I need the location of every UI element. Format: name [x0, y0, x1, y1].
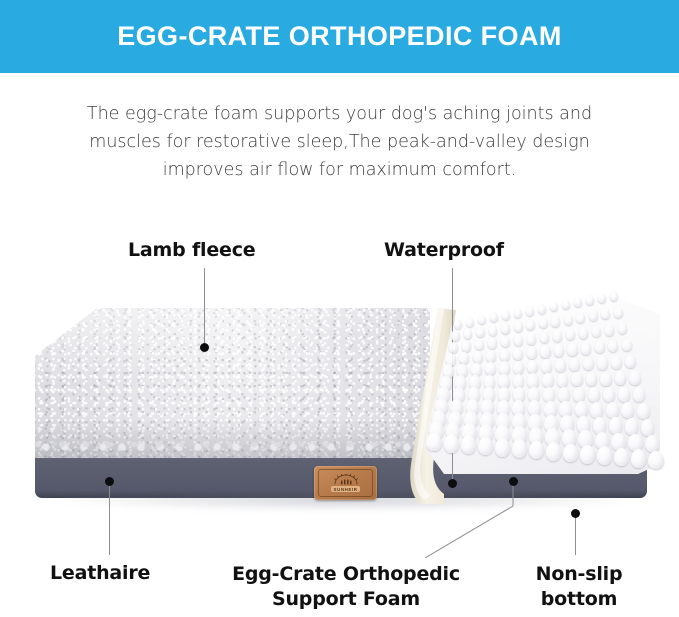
foam-peak — [502, 310, 510, 320]
foam-peak — [574, 297, 582, 307]
foam-peak — [610, 291, 618, 301]
foam-peak — [598, 293, 606, 303]
foam-peak — [633, 387, 645, 402]
foam-peak — [564, 314, 573, 325]
foam-peak — [512, 439, 527, 458]
foam-peak — [500, 349, 510, 362]
foam-peak — [615, 371, 627, 385]
foam-peak — [513, 374, 525, 388]
foam-peak — [625, 418, 639, 435]
leader-line-leathaire — [109, 481, 110, 555]
foam-peak — [581, 342, 591, 355]
foam-peak — [449, 342, 459, 354]
egg-crate-foam-block — [424, 296, 660, 506]
tag-inner-border: SUNHEIR — [318, 469, 373, 497]
foam-peak — [622, 339, 632, 352]
label-non-slip-bottom: Non-slip bottom — [523, 562, 635, 612]
foam-peak — [464, 328, 473, 339]
label-leathaire: Leathaire — [50, 562, 150, 584]
foam-peak — [526, 306, 534, 316]
foam-peak — [562, 300, 570, 310]
foam-peaks — [424, 296, 660, 506]
foam-peak — [597, 356, 608, 369]
foam-peak — [485, 362, 496, 375]
foam-peak — [595, 341, 605, 354]
foam-peak — [550, 302, 558, 312]
foam-peak — [580, 445, 595, 464]
foam-peak — [603, 387, 615, 402]
foam-peak — [608, 340, 618, 353]
foam-peak — [495, 438, 510, 457]
foam-peak — [553, 330, 563, 342]
foam-peak — [529, 441, 544, 460]
foam-peak — [589, 310, 598, 321]
foam-peak — [513, 361, 524, 374]
foam-peak — [499, 361, 510, 374]
foam-peak — [631, 449, 646, 468]
foam-peak — [573, 387, 585, 402]
foam-peak — [571, 372, 583, 386]
foam-peak — [606, 402, 619, 418]
foam-peak — [605, 324, 615, 336]
foam-peak — [540, 345, 550, 358]
foam-peak — [546, 442, 561, 461]
foam-peak — [566, 329, 576, 341]
foam-peak — [614, 307, 623, 318]
foam-peak — [586, 372, 598, 386]
foam-peak — [542, 373, 554, 387]
foam-peak — [611, 356, 622, 369]
foam-peak — [426, 433, 441, 452]
foam-peak — [621, 402, 634, 418]
foam-peak — [541, 359, 552, 372]
header-banner: EGG-CRATE ORTHOPEDIC FOAM — [0, 0, 679, 73]
foam-peak — [637, 403, 650, 419]
foam-peak — [592, 326, 602, 338]
foam-peak — [645, 435, 660, 453]
foam-peak — [501, 336, 511, 348]
foam-peak — [590, 402, 603, 418]
foam-peak — [543, 387, 555, 402]
foam-peak — [614, 448, 629, 467]
callout-dot-leathaire — [105, 477, 114, 486]
leader-line-egg-crate-foam — [425, 476, 520, 561]
foam-peak — [473, 351, 483, 364]
page-title: EGG-CRATE ORTHOPEDIC FOAM — [117, 21, 562, 52]
foam-peak — [490, 312, 498, 322]
foam-peak — [618, 323, 628, 335]
foam-peak — [579, 327, 589, 339]
brand-leather-tag: SUNHEIR — [314, 466, 377, 500]
foam-peak — [489, 325, 498, 336]
foam-peak — [466, 317, 474, 327]
foam-peak — [526, 319, 535, 330]
foam-peak — [527, 346, 537, 359]
foam-peak — [569, 358, 580, 371]
label-waterproof: Waterproof — [384, 239, 504, 261]
brand-name: SUNHEIR — [331, 486, 360, 492]
fleece-fringe — [35, 442, 423, 456]
foam-peak — [444, 434, 459, 453]
foam-peak — [459, 352, 469, 365]
sunburst-logo-icon — [333, 474, 359, 486]
foam-peak — [478, 315, 486, 325]
foam-peak — [563, 444, 578, 463]
callout-dot-lamb-fleece — [200, 343, 209, 352]
foam-peak — [625, 355, 636, 368]
foam-peak — [527, 360, 538, 373]
foam-peak — [462, 340, 472, 352]
foam-peak — [555, 358, 566, 371]
foam-peak — [586, 295, 594, 305]
foam-peak — [478, 437, 493, 456]
foam-peak — [554, 344, 564, 357]
foam-peak — [538, 304, 546, 314]
foam-peak — [451, 330, 460, 341]
leader-line-lamb-fleece — [204, 268, 205, 347]
foam-peak — [513, 348, 523, 361]
foam-peak — [593, 417, 607, 434]
foam-peak — [514, 334, 524, 346]
lamb-fleece-surface — [35, 308, 430, 458]
foam-peak — [648, 451, 663, 470]
foam-peak — [600, 372, 612, 386]
foam-peak — [454, 319, 462, 329]
foam-peak — [618, 387, 630, 402]
foam-peak — [597, 446, 612, 465]
foam-peak — [583, 357, 594, 370]
foam-peak — [488, 337, 498, 349]
foam-peak — [514, 308, 522, 318]
infographic-root: EGG-CRATE ORTHOPEDIC FOAM The egg-crate … — [0, 0, 679, 617]
intro-paragraph: The egg-crate foam supports your dog's a… — [50, 100, 629, 184]
foam-peak — [476, 327, 485, 338]
foam-peak — [609, 417, 623, 434]
foam-peak — [527, 373, 539, 387]
foam-peak — [641, 419, 655, 436]
leader-line-non-slip — [575, 517, 576, 555]
foam-peak — [475, 339, 485, 351]
foam-peak — [551, 316, 560, 327]
label-lamb-fleece: Lamb fleece — [128, 239, 255, 261]
foam-peak — [588, 387, 600, 402]
foam-peak — [527, 333, 537, 345]
foam-peak — [567, 343, 577, 356]
foam-peak — [557, 373, 569, 387]
foam-peak — [501, 323, 510, 334]
foam-peak — [575, 401, 588, 417]
foam-peak — [629, 371, 641, 385]
foam-peak — [539, 318, 548, 329]
callout-dot-non-slip — [571, 509, 580, 518]
fleece-shading — [35, 308, 430, 458]
foam-peak — [486, 350, 496, 363]
foam-peak — [601, 309, 610, 320]
foam-peak — [514, 321, 523, 332]
foam-peak — [540, 332, 550, 344]
foam-peak — [576, 312, 585, 323]
label-egg-crate-foam: Egg-Crate Orthopedic Support Foam — [211, 562, 481, 612]
callout-dot-egg-crate-foam — [509, 477, 518, 486]
foam-peak — [461, 435, 476, 454]
foam-peak — [558, 387, 570, 402]
